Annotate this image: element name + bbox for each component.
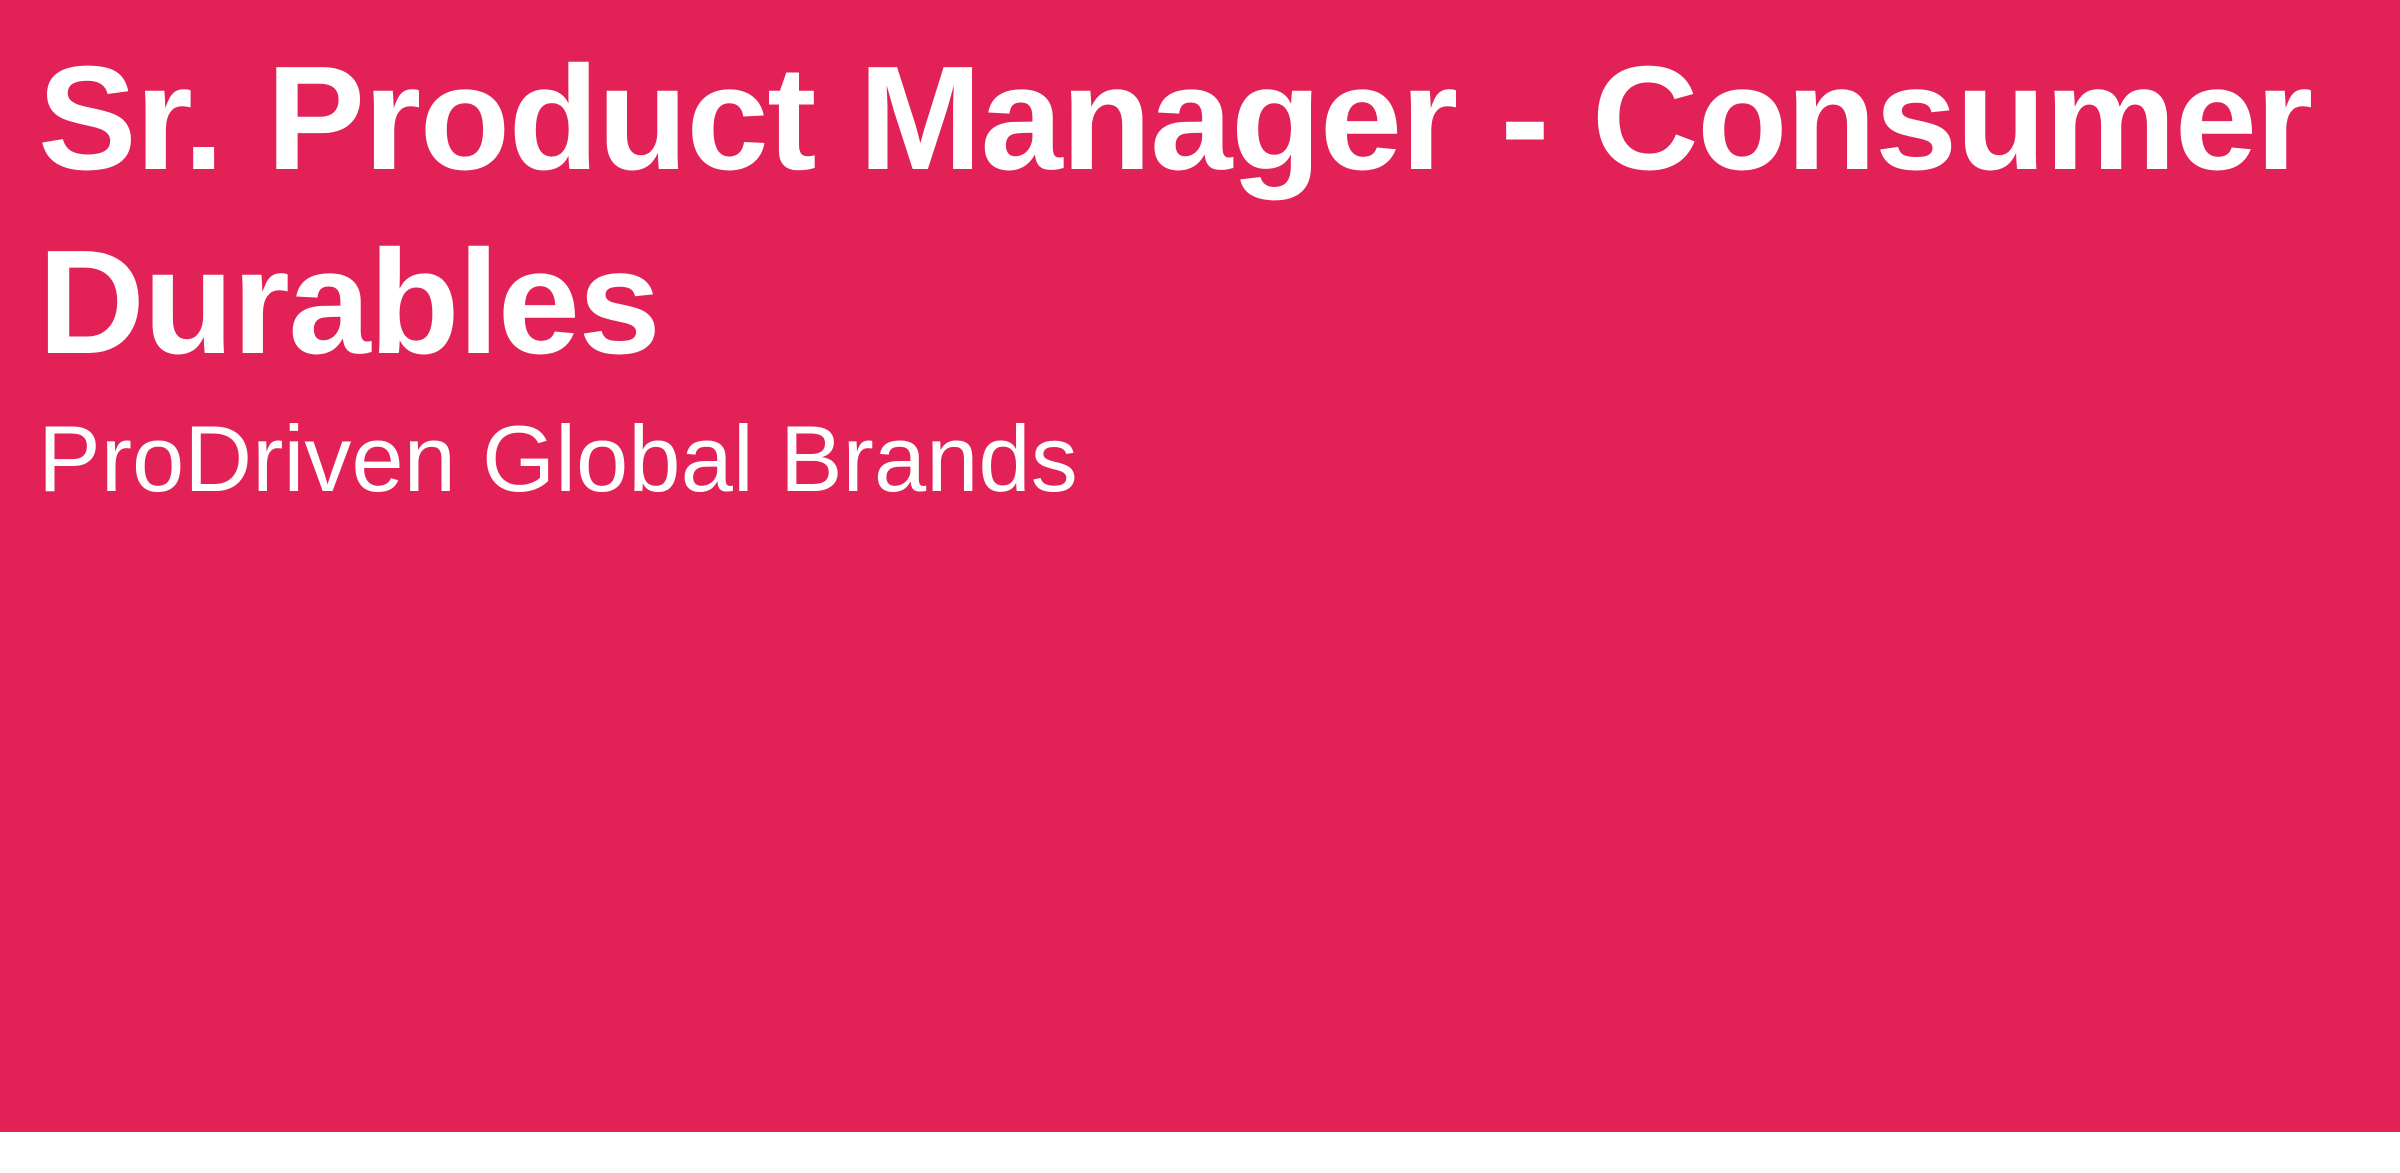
job-posting-header-screen: Sr. Product Manager - Consumer Durables … bbox=[0, 0, 2400, 1173]
hero-text-block: Sr. Product Manager - Consumer Durables … bbox=[38, 0, 2368, 515]
bottom-divider-strip bbox=[0, 1132, 2400, 1173]
company-name: ProDriven Global Brands bbox=[38, 395, 2368, 515]
hero-banner: Sr. Product Manager - Consumer Durables … bbox=[0, 0, 2400, 1132]
page-title: Sr. Product Manager - Consumer Durables bbox=[38, 0, 2368, 395]
